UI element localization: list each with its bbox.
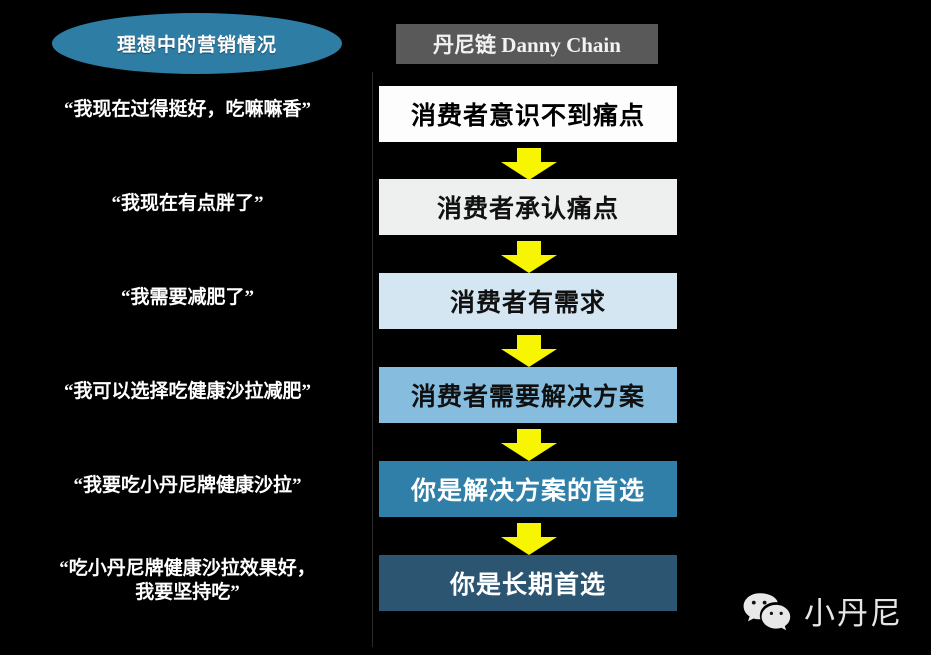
consumer-quote: “我现在过得挺好，吃嘛嘛香” <box>10 98 365 122</box>
funnel-stage-box: 消费者有需求 <box>379 273 677 329</box>
consumer-quote: “我要吃小丹尼牌健康沙拉” <box>10 474 365 498</box>
funnel-stage-label: 消费者承认痛点 <box>437 189 619 225</box>
funnel-stage-label: 你是长期首选 <box>450 565 606 601</box>
down-arrow-icon <box>497 429 561 461</box>
watermark-label: 小丹尼 <box>804 588 903 633</box>
column-divider <box>372 72 373 647</box>
consumer-quote: “我现在有点胖了” <box>10 192 365 216</box>
funnel-stage-box: 你是长期首选 <box>379 555 677 611</box>
down-arrow-icon <box>497 335 561 367</box>
down-arrow-icon <box>497 241 561 273</box>
brand-title-label: 丹尼链 Danny Chain <box>433 29 621 59</box>
funnel-stage-box: 你是解决方案的首选 <box>379 461 677 517</box>
section-title-label: 理想中的营销情况 <box>117 30 277 57</box>
funnel-stage-label: 消费者有需求 <box>450 283 606 319</box>
slide-canvas: 理想中的营销情况 丹尼链 Danny Chain “我现在过得挺好，吃嘛嘛香”消… <box>0 0 931 655</box>
funnel-stage-box: 消费者意识不到痛点 <box>379 86 677 142</box>
section-title-badge: 理想中的营销情况 <box>52 13 342 74</box>
down-arrow-icon <box>497 148 561 180</box>
consumer-quote: “我需要减肥了” <box>10 286 365 310</box>
consumer-quote: “我可以选择吃健康沙拉减肥” <box>10 380 365 404</box>
funnel-stage-label: 消费者需要解决方案 <box>411 377 645 413</box>
funnel-stage-box: 消费者需要解决方案 <box>379 367 677 423</box>
down-arrow-icon <box>497 523 561 555</box>
funnel-stage-label: 消费者意识不到痛点 <box>411 96 645 132</box>
brand-title-box: 丹尼链 Danny Chain <box>396 24 658 64</box>
consumer-quote: “吃小丹尼牌健康沙拉效果好， 我要坚持吃” <box>10 557 365 606</box>
wechat-icon <box>742 591 794 631</box>
funnel-stage-label: 你是解决方案的首选 <box>411 471 645 507</box>
watermark: 小丹尼 <box>742 588 903 633</box>
funnel-stage-box: 消费者承认痛点 <box>379 179 677 235</box>
